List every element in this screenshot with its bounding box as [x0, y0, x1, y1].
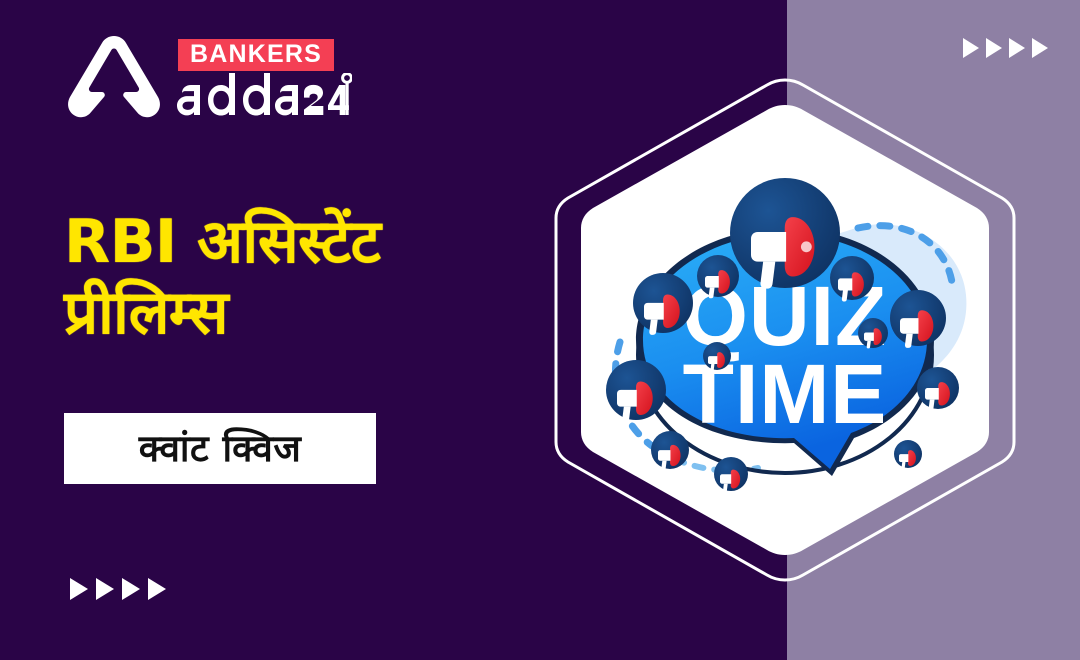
brand-logo[interactable]: BANKERS — [66, 33, 352, 125]
headline-line-1: RBI असिस्टेंट — [64, 207, 380, 277]
subject-label-text: क्वांट क्विज — [139, 430, 302, 467]
headline-line-2: प्रीलिम्स — [64, 278, 564, 349]
quiz-time-hero-graphic: QUIZ TIME — [540, 50, 1030, 610]
banner-root: BANKERS — [0, 0, 1080, 660]
play-triangle-icon — [148, 578, 166, 600]
play-triangle-icon — [96, 578, 114, 600]
logo-wordmark-group: BANKERS — [178, 39, 352, 119]
megaphone-badge-icon — [730, 178, 840, 289]
bankers-badge: BANKERS — [178, 39, 334, 71]
play-triangle-icon — [70, 578, 88, 600]
subject-label-box: क्वांट क्विज — [64, 413, 376, 484]
adda247-wordmark — [178, 73, 352, 119]
arrow-cluster-bottom-left — [70, 578, 174, 600]
page-title: RBI असिस्टेंट प्रीलिम्स — [64, 207, 564, 349]
play-triangle-icon — [1032, 38, 1048, 58]
play-triangle-icon — [122, 578, 140, 600]
adda247-a-logo-icon — [66, 33, 162, 125]
